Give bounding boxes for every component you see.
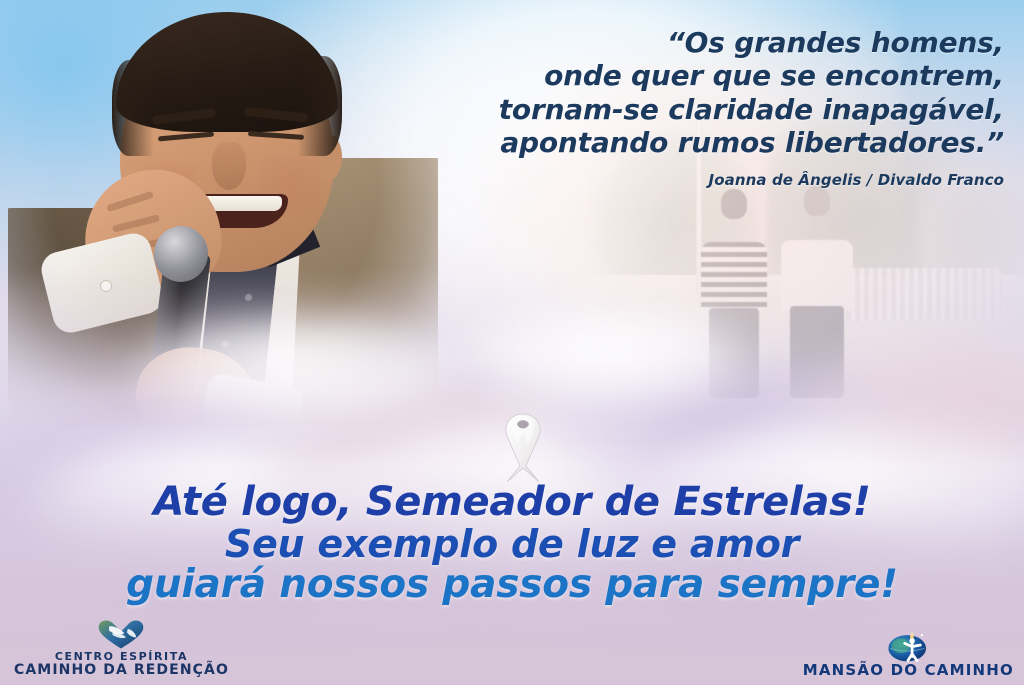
headline-line-1: Até logo, Semeador de Estrelas! [0, 482, 1024, 523]
portrait-bottom-fade [8, 268, 438, 428]
white-awareness-ribbon-icon [487, 404, 559, 486]
portrait-nose [212, 142, 246, 190]
headline-block: Até logo, Semeador de Estrelas! Seu exem… [0, 482, 1024, 604]
logo-line-2: MANSÃO DO CAMINHO [803, 662, 1014, 679]
heart-hands-icon [91, 617, 151, 651]
headline-line-3: guiará nossos passos para sempre! [0, 565, 1024, 605]
portrait-hair-side-right [298, 56, 342, 156]
photo-fence [842, 268, 1002, 321]
globe-figure-icon [883, 628, 933, 662]
quote-line-2: onde quer que se encontrem, [364, 59, 1004, 92]
quote-line-3: tornam-se claridade inapagável, [364, 93, 1004, 126]
logo-mansao-do-caminho[interactable]: MANSÃO DO CAMINHO [803, 628, 1014, 679]
photo-person-legs [709, 308, 759, 398]
photo-person-legs [790, 306, 845, 397]
logo-mansao-text: MANSÃO DO CAMINHO [803, 662, 1014, 679]
quote-line-4: apontando rumos libertadores.” [364, 126, 1004, 159]
logo-centro-espirita[interactable]: CENTRO ESPÍRITA CAMINHO DA REDENÇÃO [14, 617, 229, 679]
photo-person-striped-shirt [701, 189, 767, 394]
quote-line-1: “Os grandes homens, [364, 26, 1004, 59]
logo-centro-espirita-text: CENTRO ESPÍRITA CAMINHO DA REDENÇÃO [14, 651, 229, 679]
logo-line-2: CAMINHO DA REDENÇÃO [14, 663, 229, 679]
headline-line-2: Seu exemplo de luz e amor [0, 525, 1024, 564]
memorial-poster: “Os grandes homens, onde quer que se enc… [0, 0, 1024, 685]
photo-person-white-shirt [781, 186, 853, 394]
photo-person-torso [781, 240, 853, 311]
photo-person-head [804, 186, 830, 216]
quote-attribution: Joanna de Ângelis / Divaldo Franco [364, 171, 1004, 189]
photo-person-head [721, 189, 747, 219]
photo-person-torso [701, 242, 767, 312]
portrait-hair-side-left [112, 60, 154, 156]
quote-block: “Os grandes homens, onde quer que se enc… [364, 26, 1004, 189]
